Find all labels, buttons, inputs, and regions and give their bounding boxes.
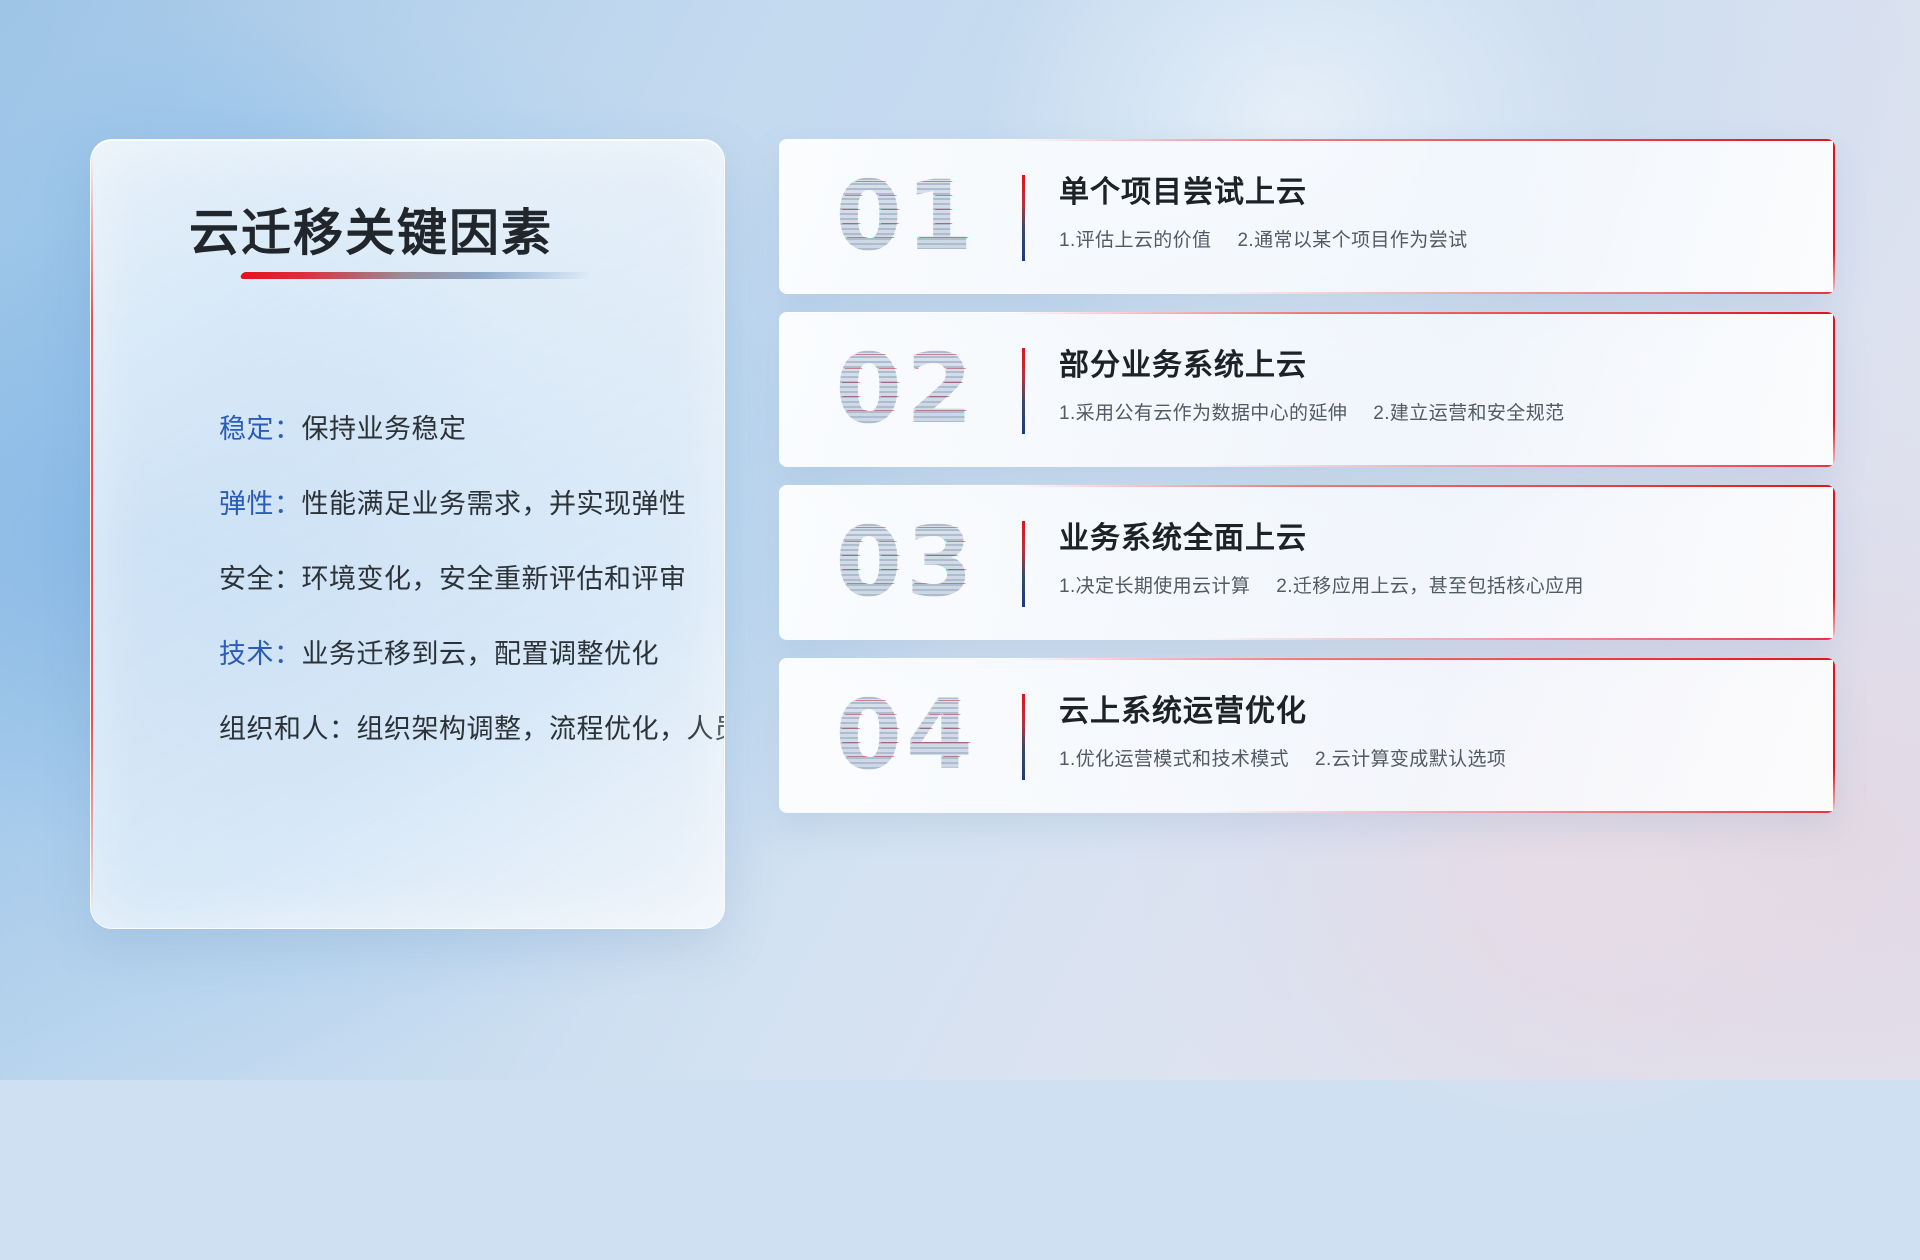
step-accent-bar — [1022, 175, 1025, 261]
card-right-accent-line — [1833, 139, 1835, 294]
step-number-glitch-overlay-icon: 03 — [813, 499, 1003, 625]
title-underline-rule — [240, 272, 593, 279]
card-bottom-accent-line — [1201, 638, 1835, 640]
step-subtitle: 1.评估上云的价值2.通常以某个项目作为尝试 — [1059, 225, 1468, 252]
factor-item: 安全：环境变化，安全重新评估和评审 — [219, 542, 684, 617]
card-bottom-accent-line — [1201, 292, 1835, 294]
step-card[interactable]: 0303业务系统全面上云1.决定长期使用云计算2.迁移应用上云，甚至包括核心应用 — [779, 485, 1835, 640]
factor-value: 业务迁移到云，配置调整优化 — [302, 639, 660, 669]
step-card[interactable]: 0404云上系统运营优化1.优化运营模式和技术模式2.云计算变成默认选项 — [779, 658, 1835, 813]
card-left-highlight-line — [779, 312, 781, 467]
step-point-1: 1.评估上云的价值 — [1059, 230, 1211, 251]
factor-item: 弹性：性能满足业务需求，并实现弹性 — [219, 467, 684, 542]
step-point-1: 1.优化运营模式和技术模式 — [1059, 749, 1289, 770]
step-card[interactable]: 0202部分业务系统上云1.采用公有云作为数据中心的延伸2.建立运营和安全规范 — [779, 312, 1835, 467]
card-top-accent-line — [1011, 312, 1835, 314]
factor-value: 保持业务稳定 — [302, 414, 467, 444]
factor-item: 技术：业务迁移到云，配置调整优化 — [219, 617, 684, 692]
factor-value: 组织架构调整，流程优化，人员技能培训 — [357, 714, 726, 744]
step-subtitle: 1.优化运营模式和技术模式2.云计算变成默认选项 — [1059, 744, 1506, 771]
factor-list: 稳定：保持业务稳定弹性：性能满足业务需求，并实现弹性安全：环境变化，安全重新评估… — [219, 392, 684, 767]
card-left-highlight-line — [779, 139, 781, 294]
factor-label: 技术： — [219, 639, 302, 669]
step-card[interactable]: 0101单个项目尝试上云1.评估上云的价值2.通常以某个项目作为尝试 — [779, 139, 1835, 294]
step-title: 云上系统运营优化 — [1059, 686, 1307, 730]
step-number-glitch-overlay-icon: 02 — [813, 326, 1003, 452]
step-point-2: 2.迁移应用上云，甚至包括核心应用 — [1276, 576, 1584, 597]
card-bottom-accent-line — [1201, 465, 1835, 467]
step-title: 单个项目尝试上云 — [1059, 167, 1307, 211]
step-subtitle: 1.决定长期使用云计算2.迁移应用上云，甚至包括核心应用 — [1059, 571, 1584, 598]
factor-label: 组织和人： — [219, 714, 357, 744]
factor-item: 稳定：保持业务稳定 — [219, 392, 684, 467]
key-factors-panel: 云迁移关键因素 稳定：保持业务稳定弹性：性能满足业务需求，并实现弹性安全：环境变… — [90, 139, 725, 929]
card-bottom-accent-line — [1201, 811, 1835, 813]
factor-item: 组织和人：组织架构调整，流程优化，人员技能培训 — [219, 692, 684, 767]
card-right-accent-line — [1833, 312, 1835, 467]
step-point-1: 1.采用公有云作为数据中心的延伸 — [1059, 403, 1347, 424]
step-accent-bar — [1022, 694, 1025, 780]
factor-label: 稳定： — [219, 414, 302, 444]
page-title: 云迁移关键因素 — [189, 193, 553, 265]
step-point-2: 2.云计算变成默认选项 — [1315, 749, 1506, 770]
step-title: 业务系统全面上云 — [1059, 513, 1307, 557]
step-point-2: 2.建立运营和安全规范 — [1373, 403, 1564, 424]
step-accent-bar — [1022, 348, 1025, 434]
factor-value: 环境变化，安全重新评估和评审 — [302, 564, 687, 594]
step-number-glitch-overlay-icon: 01 — [813, 153, 1003, 279]
step-number-glitch-overlay-icon: 04 — [813, 672, 1003, 798]
card-top-accent-line — [1011, 485, 1835, 487]
card-top-accent-line — [1011, 139, 1835, 141]
step-accent-bar — [1022, 521, 1025, 607]
factor-label: 安全： — [219, 564, 302, 594]
step-point-1: 1.决定长期使用云计算 — [1059, 576, 1250, 597]
card-right-accent-line — [1833, 658, 1835, 813]
step-point-2: 2.通常以某个项目作为尝试 — [1237, 230, 1467, 251]
slide-stage: 云迁移关键因素 稳定：保持业务稳定弹性：性能满足业务需求，并实现弹性安全：环境变… — [0, 0, 1920, 1080]
step-title: 部分业务系统上云 — [1059, 340, 1307, 384]
card-top-accent-line — [1011, 658, 1835, 660]
factor-label: 弹性： — [219, 489, 302, 519]
card-left-highlight-line — [779, 658, 781, 813]
card-left-highlight-line — [779, 485, 781, 640]
factor-value: 性能满足业务需求，并实现弹性 — [302, 489, 687, 519]
card-right-accent-line — [1833, 485, 1835, 640]
step-subtitle: 1.采用公有云作为数据中心的延伸2.建立运营和安全规范 — [1059, 398, 1565, 425]
